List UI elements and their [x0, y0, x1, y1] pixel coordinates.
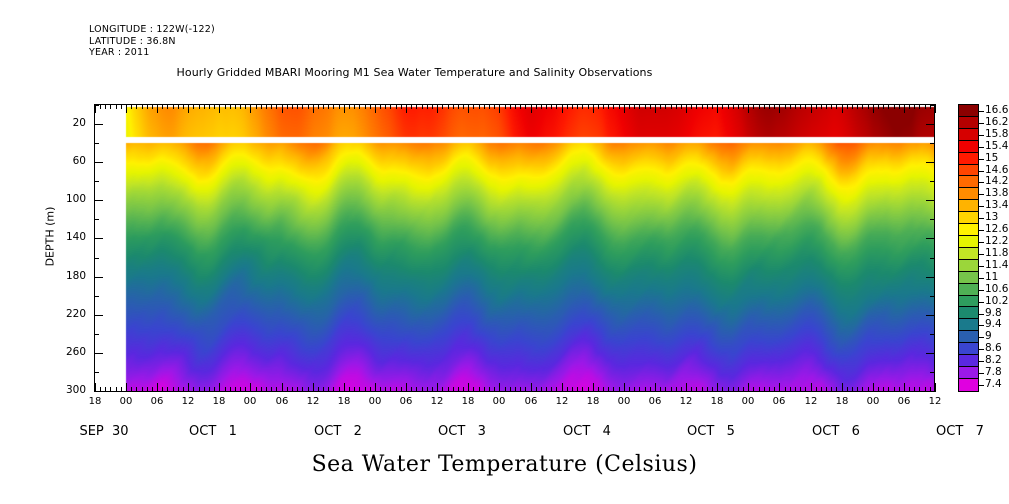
x-tick-minor-top	[925, 104, 926, 109]
colorbar-tick-label: 15.4	[985, 140, 1008, 152]
colorbar-tick	[979, 314, 984, 315]
y-axis-depth-label: 300	[46, 384, 86, 396]
x-tick-minor-top	[142, 104, 143, 109]
x-tick-minor-top	[634, 104, 635, 109]
x-axis-hour-label: 00	[360, 396, 390, 407]
x-tick-minor	[261, 387, 262, 392]
colorbar-caption: Sea Water Temperature (Celsius)	[0, 452, 1009, 477]
colorbar-tick	[979, 147, 984, 148]
x-axis-hour-label: 00	[111, 396, 141, 407]
x-tick-minor	[909, 387, 910, 392]
x-tick-minor	[385, 387, 386, 392]
x-tick-major-top	[593, 104, 594, 113]
x-tick-minor-top	[339, 104, 340, 109]
x-tick-minor	[878, 387, 879, 392]
x-tick-minor	[722, 387, 723, 392]
x-tick-minor	[525, 387, 526, 392]
x-tick-minor	[308, 387, 309, 392]
x-tick-minor	[173, 387, 174, 392]
x-tick-minor-top	[136, 104, 137, 109]
x-tick-minor	[214, 387, 215, 392]
x-tick-major	[811, 383, 812, 392]
x-tick-minor	[551, 387, 552, 392]
x-tick-minor-top	[105, 104, 106, 109]
x-tick-minor-top	[613, 104, 614, 109]
colorbar-tick	[979, 182, 984, 183]
y-tick-major	[94, 238, 103, 239]
colorbar-band	[959, 272, 978, 284]
colorbar-tick	[979, 361, 984, 362]
x-tick-minor	[919, 387, 920, 392]
x-tick-major-top	[904, 104, 905, 113]
x-tick-minor	[204, 387, 205, 392]
colorbar-tick-label: 9	[985, 330, 992, 342]
x-tick-minor	[696, 387, 697, 392]
x-tick-minor	[546, 387, 547, 392]
x-tick-minor	[401, 387, 402, 392]
y-tick-major-right	[926, 200, 935, 201]
x-tick-minor	[671, 387, 672, 392]
x-tick-minor	[541, 387, 542, 392]
x-tick-minor-top	[162, 104, 163, 109]
x-tick-minor	[712, 387, 713, 392]
x-tick-minor-top	[551, 104, 552, 109]
colorbar-tick	[979, 373, 984, 374]
x-tick-major	[748, 383, 749, 392]
x-tick-minor	[167, 387, 168, 392]
x-tick-minor-top	[852, 104, 853, 109]
x-tick-major	[873, 383, 874, 392]
x-tick-minor	[914, 387, 915, 392]
x-tick-minor	[556, 387, 557, 392]
colorbar-tick-label: 15.8	[985, 128, 1008, 140]
x-tick-minor	[795, 387, 796, 392]
x-tick-minor-top	[707, 104, 708, 109]
x-tick-minor-top	[728, 104, 729, 109]
x-tick-major	[935, 383, 936, 392]
x-tick-minor-top	[909, 104, 910, 109]
x-tick-minor	[365, 387, 366, 392]
x-tick-minor	[432, 387, 433, 392]
y-tick-minor-right	[930, 334, 935, 335]
x-tick-minor-top	[619, 104, 620, 109]
colorbar-tick	[979, 302, 984, 303]
colorbar-tick	[979, 111, 984, 112]
x-tick-minor	[577, 387, 578, 392]
x-tick-minor	[136, 387, 137, 392]
x-axis-day-label: OCT 2	[273, 424, 403, 439]
x-tick-minor-top	[349, 104, 350, 109]
x-tick-major	[842, 383, 843, 392]
x-tick-minor	[733, 387, 734, 392]
colorbar-band	[959, 105, 978, 117]
y-tick-major-right	[926, 124, 935, 125]
colorbar-tick	[979, 254, 984, 255]
x-tick-minor-top	[287, 104, 288, 109]
colorbar-band	[959, 260, 978, 272]
x-tick-major	[250, 383, 251, 392]
x-axis-hour-label: 18	[204, 396, 234, 407]
x-tick-minor-top	[427, 104, 428, 109]
colorbar-tick-label: 10.6	[985, 283, 1008, 295]
x-tick-minor	[681, 387, 682, 392]
x-tick-minor-top	[702, 104, 703, 109]
y-tick-minor-right	[930, 105, 935, 106]
x-tick-minor-top	[422, 104, 423, 109]
x-tick-minor	[634, 387, 635, 392]
colorbar-band	[959, 141, 978, 153]
x-axis-hour-label: 12	[796, 396, 826, 407]
x-tick-minor	[764, 387, 765, 392]
y-tick-minor	[94, 105, 99, 106]
x-tick-minor-top	[805, 104, 806, 109]
x-tick-minor-top	[536, 104, 537, 109]
x-tick-minor	[805, 387, 806, 392]
x-tick-minor	[297, 387, 298, 392]
header-metadata: LONGITUDE : 122W(-122) LATITUDE : 36.8N …	[89, 24, 215, 59]
y-tick-minor	[94, 181, 99, 182]
x-axis-hour-label: 18	[80, 396, 110, 407]
x-tick-major	[717, 383, 718, 392]
x-tick-major-top	[624, 104, 625, 113]
chart-title-text: Hourly Gridded MBARI Mooring M1 Sea Wate…	[177, 66, 653, 79]
x-tick-minor	[520, 387, 521, 392]
y-tick-major-right	[926, 315, 935, 316]
x-tick-minor-top	[453, 104, 454, 109]
x-tick-major	[282, 383, 283, 392]
colorbar-tick-label: 7.4	[985, 378, 1002, 390]
x-axis-hour-label: 06	[267, 396, 297, 407]
x-tick-minor-top	[297, 104, 298, 109]
metadata-latitude: LATITUDE : 36.8N	[89, 36, 215, 48]
x-tick-minor-top	[691, 104, 692, 109]
x-tick-minor	[230, 387, 231, 392]
x-tick-minor-top	[515, 104, 516, 109]
colorbar-band	[959, 331, 978, 343]
x-tick-minor-top	[173, 104, 174, 109]
x-tick-minor-top	[116, 104, 117, 109]
x-tick-minor-top	[608, 104, 609, 109]
x-tick-minor-top	[696, 104, 697, 109]
x-tick-minor	[240, 387, 241, 392]
x-tick-minor-top	[271, 104, 272, 109]
x-axis-hour-label: 12	[298, 396, 328, 407]
x-tick-major	[157, 383, 158, 392]
x-tick-minor	[235, 387, 236, 392]
x-tick-minor	[116, 387, 117, 392]
colorbar-band	[959, 200, 978, 212]
x-tick-minor	[287, 387, 288, 392]
x-axis-hour-label: 18	[329, 396, 359, 407]
x-tick-minor	[162, 387, 163, 392]
metadata-year: YEAR : 2011	[89, 47, 215, 59]
x-tick-minor	[826, 387, 827, 392]
x-tick-minor-top	[318, 104, 319, 109]
x-tick-minor-top	[831, 104, 832, 109]
colorbar	[958, 104, 979, 392]
x-tick-minor-top	[556, 104, 557, 109]
colorbar-band	[959, 367, 978, 379]
x-tick-major-top	[655, 104, 656, 113]
y-tick-major	[94, 391, 103, 392]
colorbar-tick	[979, 135, 984, 136]
colorbar-tick-label: 16.2	[985, 116, 1008, 128]
x-tick-minor-top	[458, 104, 459, 109]
colorbar-band	[959, 212, 978, 224]
colorbar-band	[959, 129, 978, 141]
x-tick-minor	[370, 387, 371, 392]
x-tick-minor	[613, 387, 614, 392]
x-tick-minor	[110, 387, 111, 392]
colorbar-tick	[979, 230, 984, 231]
colorbar-tick-label: 11.4	[985, 259, 1008, 271]
colorbar-tick	[979, 278, 984, 279]
x-tick-minor-top	[577, 104, 578, 109]
colorbar-tick	[979, 325, 984, 326]
x-tick-major-top	[842, 104, 843, 113]
x-tick-minor-top	[899, 104, 900, 109]
x-tick-minor-top	[541, 104, 542, 109]
x-tick-minor	[302, 387, 303, 392]
y-tick-major	[94, 353, 103, 354]
x-tick-major-top	[748, 104, 749, 113]
colorbar-tick	[979, 242, 984, 243]
y-tick-major	[94, 315, 103, 316]
x-tick-minor-top	[800, 104, 801, 109]
x-tick-minor	[702, 387, 703, 392]
y-tick-minor	[94, 143, 99, 144]
x-tick-major-top	[282, 104, 283, 113]
x-axis-hour-label: 06	[142, 396, 172, 407]
x-tick-minor	[899, 387, 900, 392]
x-tick-minor	[333, 387, 334, 392]
x-tick-minor-top	[795, 104, 796, 109]
x-axis-hour-label: 06	[391, 396, 421, 407]
x-tick-minor-top	[147, 104, 148, 109]
x-tick-minor-top	[588, 104, 589, 109]
x-tick-minor	[416, 387, 417, 392]
x-tick-minor-top	[914, 104, 915, 109]
x-tick-major	[499, 383, 500, 392]
colorbar-tick	[979, 290, 984, 291]
y-axis-depth-label: 60	[46, 155, 86, 167]
x-tick-minor-top	[448, 104, 449, 109]
x-tick-major-top	[188, 104, 189, 113]
colorbar-tick-label: 15	[985, 152, 998, 164]
y-tick-minor	[94, 372, 99, 373]
colorbar-tick-label: 11	[985, 271, 998, 283]
x-axis-day-label: OCT 6	[771, 424, 901, 439]
x-tick-minor-top	[380, 104, 381, 109]
x-tick-major-top	[344, 104, 345, 113]
x-axis-hour-label: 00	[609, 396, 639, 407]
x-tick-minor-top	[629, 104, 630, 109]
colorbar-tick-label: 8.2	[985, 354, 1002, 366]
x-tick-minor-top	[785, 104, 786, 109]
x-tick-major-top	[779, 104, 780, 113]
x-tick-minor	[800, 387, 801, 392]
x-axis-hour-label: 18	[578, 396, 608, 407]
x-tick-minor	[759, 387, 760, 392]
y-axis-depth-label: 260	[46, 346, 86, 358]
x-tick-minor	[598, 387, 599, 392]
y-axis-depth-label: 20	[46, 117, 86, 129]
x-tick-minor-top	[494, 104, 495, 109]
x-tick-minor	[743, 387, 744, 392]
colorbar-tick	[979, 206, 984, 207]
y-tick-minor	[94, 219, 99, 220]
x-tick-minor-top	[235, 104, 236, 109]
x-tick-minor	[458, 387, 459, 392]
x-tick-minor-top	[650, 104, 651, 109]
x-tick-minor-top	[323, 104, 324, 109]
x-tick-minor-top	[582, 104, 583, 109]
x-tick-minor-top	[365, 104, 366, 109]
x-tick-minor-top	[883, 104, 884, 109]
colorbar-tick-label: 12.2	[985, 235, 1008, 247]
x-tick-major	[624, 383, 625, 392]
y-tick-minor-right	[930, 372, 935, 373]
x-tick-major	[468, 383, 469, 392]
x-axis-day-label: OCT 1	[148, 424, 278, 439]
x-tick-minor	[572, 387, 573, 392]
x-tick-minor	[645, 387, 646, 392]
x-tick-major	[188, 383, 189, 392]
x-tick-minor	[131, 387, 132, 392]
x-tick-minor	[183, 387, 184, 392]
y-tick-major-right	[926, 238, 935, 239]
x-axis-hour-label: 00	[484, 396, 514, 407]
x-tick-minor	[411, 387, 412, 392]
x-tick-minor	[894, 387, 895, 392]
x-tick-minor-top	[333, 104, 334, 109]
temperature-heatmap	[95, 105, 934, 391]
x-tick-minor-top	[131, 104, 132, 109]
x-tick-minor-top	[790, 104, 791, 109]
x-tick-minor-top	[712, 104, 713, 109]
x-tick-minor	[494, 387, 495, 392]
x-tick-minor	[582, 387, 583, 392]
x-tick-minor-top	[525, 104, 526, 109]
x-tick-minor-top	[370, 104, 371, 109]
colorbar-tick	[979, 218, 984, 219]
x-tick-minor-top	[894, 104, 895, 109]
y-tick-minor-right	[930, 219, 935, 220]
x-tick-minor	[323, 387, 324, 392]
x-tick-major	[904, 383, 905, 392]
y-tick-major-right	[926, 162, 935, 163]
x-axis-hour-label: 12	[422, 396, 452, 407]
x-tick-minor	[862, 387, 863, 392]
x-tick-minor	[660, 387, 661, 392]
y-tick-minor-right	[930, 296, 935, 297]
x-tick-major-top	[873, 104, 874, 113]
x-axis-day-label: OCT 3	[397, 424, 527, 439]
x-tick-minor	[152, 387, 153, 392]
x-tick-minor-top	[603, 104, 604, 109]
x-tick-minor	[629, 387, 630, 392]
x-tick-minor	[691, 387, 692, 392]
x-tick-minor	[453, 387, 454, 392]
x-tick-minor	[588, 387, 589, 392]
x-tick-major-top	[686, 104, 687, 113]
colorbar-band	[959, 117, 978, 129]
x-tick-minor-top	[240, 104, 241, 109]
x-tick-minor	[256, 387, 257, 392]
colorbar-tick-label: 16.6	[985, 104, 1008, 116]
colorbar-tick-label: 7.8	[985, 366, 1002, 378]
y-tick-major	[94, 277, 103, 278]
x-axis-hour-label: 12	[920, 396, 950, 407]
x-tick-minor	[536, 387, 537, 392]
x-tick-major	[313, 383, 314, 392]
x-tick-major-top	[219, 104, 220, 113]
x-tick-minor	[738, 387, 739, 392]
x-tick-minor	[785, 387, 786, 392]
x-axis-hour-label: 12	[671, 396, 701, 407]
x-tick-minor-top	[484, 104, 485, 109]
x-tick-minor-top	[733, 104, 734, 109]
x-tick-minor	[142, 387, 143, 392]
x-tick-minor-top	[639, 104, 640, 109]
x-tick-minor-top	[816, 104, 817, 109]
x-tick-minor-top	[178, 104, 179, 109]
x-tick-minor	[728, 387, 729, 392]
x-tick-minor-top	[167, 104, 168, 109]
y-tick-major	[94, 200, 103, 201]
x-tick-minor	[505, 387, 506, 392]
x-tick-major	[219, 383, 220, 392]
x-tick-minor	[665, 387, 666, 392]
x-tick-minor-top	[769, 104, 770, 109]
x-tick-major-top	[499, 104, 500, 113]
x-tick-minor-top	[230, 104, 231, 109]
x-tick-minor-top	[256, 104, 257, 109]
x-tick-major	[126, 383, 127, 392]
x-axis-hour-label: 00	[733, 396, 763, 407]
x-tick-major-top	[437, 104, 438, 113]
x-tick-major	[437, 383, 438, 392]
plot-area	[94, 104, 935, 392]
x-tick-minor-top	[121, 104, 122, 109]
x-tick-minor-top	[276, 104, 277, 109]
x-tick-minor	[857, 387, 858, 392]
x-tick-major	[655, 383, 656, 392]
x-tick-major	[593, 383, 594, 392]
x-tick-minor-top	[722, 104, 723, 109]
y-tick-major-right	[926, 353, 935, 354]
x-axis-hour-label: 12	[547, 396, 577, 407]
x-tick-minor	[339, 387, 340, 392]
colorbar-band	[959, 355, 978, 367]
x-tick-major	[344, 383, 345, 392]
x-tick-minor-top	[245, 104, 246, 109]
x-tick-minor	[328, 387, 329, 392]
colorbar-band	[959, 176, 978, 188]
x-tick-minor-top	[821, 104, 822, 109]
x-tick-major-top	[811, 104, 812, 113]
colorbar-band	[959, 224, 978, 236]
x-axis-hour-label: 06	[516, 396, 546, 407]
x-tick-minor-top	[671, 104, 672, 109]
x-axis-hour-label: 00	[858, 396, 888, 407]
colorbar-tick-label: 14.2	[985, 175, 1008, 187]
x-tick-minor-top	[759, 104, 760, 109]
x-tick-minor-top	[676, 104, 677, 109]
x-tick-minor-top	[100, 104, 101, 109]
x-tick-minor	[639, 387, 640, 392]
x-tick-minor	[193, 387, 194, 392]
